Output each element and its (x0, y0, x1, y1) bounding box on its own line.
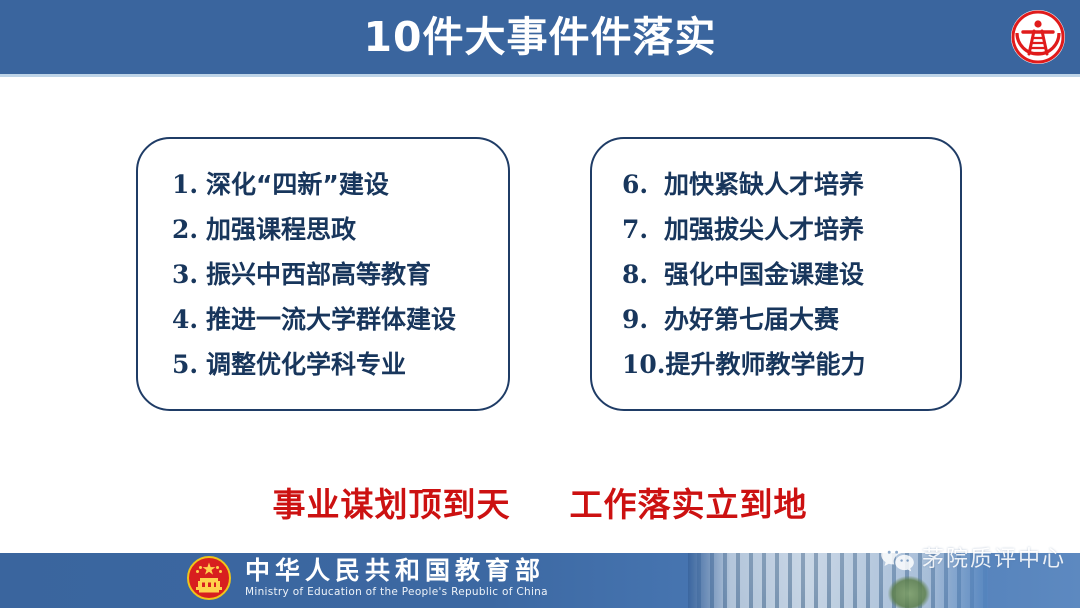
list-item: 9. 办好第七届大赛 (622, 297, 960, 342)
ministry-of-education-branding: 中华人民共和国教育部 Ministry of Education of the … (186, 555, 548, 601)
list-item-label: 办好第七届大赛 (664, 297, 839, 342)
list-box-right: 6. 加快紧缺人才培养 7. 加强拔尖人才培养 8. 强化中国金课建设 9. 办… (590, 137, 962, 411)
list-item: 2. 加强课程思政 (172, 207, 508, 252)
list-item-number: 10. (622, 342, 666, 387)
list-item: 8. 强化中国金课建设 (622, 252, 960, 297)
list-item: 6. 加快紧缺人才培养 (622, 162, 960, 207)
list-item-number: 9. (622, 297, 664, 342)
list-item: 4. 推进一流大学群体建设 (172, 297, 508, 342)
list-right: 6. 加快紧缺人才培养 7. 加强拔尖人才培养 8. 强化中国金课建设 9. 办… (592, 162, 960, 387)
slogan-part-1: 事业谋划顶到天 (273, 485, 511, 524)
university-emblem-logo (1008, 7, 1068, 67)
ministry-name-cn: 中华人民共和国教育部 (245, 557, 548, 585)
list-item-label: 加强课程思政 (206, 207, 356, 252)
watermark-label: 茅院质评中心 (922, 541, 1066, 573)
list-item-number: 3. (172, 252, 206, 297)
ministry-name-en: Ministry of Education of the People's Re… (245, 585, 548, 599)
slogan-part-2: 工作落实立到地 (570, 485, 808, 524)
list-item-number: 7. (622, 207, 664, 252)
list-left: 1. 深化“四新”建设 2. 加强课程思政 3. 振兴中西部高等教育 4. 推进… (138, 162, 508, 387)
list-item-number: 8. (622, 252, 664, 297)
list-box-left: 1. 深化“四新”建设 2. 加强课程思政 3. 振兴中西部高等教育 4. 推进… (136, 137, 510, 411)
slogan: 事业谋划顶到天 工作落实立到地 (0, 478, 1080, 526)
list-item-label: 加强拔尖人才培养 (664, 207, 864, 252)
list-item: 1. 深化“四新”建设 (172, 162, 508, 207)
list-item-number: 6. (622, 162, 664, 207)
wechat-icon (880, 542, 914, 572)
list-item-label: 推进一流大学群体建设 (206, 297, 456, 342)
list-item-number: 5. (172, 342, 206, 387)
list-item-label: 调整优化学科专业 (206, 342, 406, 387)
wechat-watermark: 茅院质评中心 (880, 541, 1066, 573)
list-item: 7. 加强拔尖人才培养 (622, 207, 960, 252)
list-item-label: 加快紧缺人才培养 (664, 162, 864, 207)
list-item-label: 提升教师教学能力 (666, 342, 866, 387)
ministry-text-block: 中华人民共和国教育部 Ministry of Education of the … (245, 557, 548, 599)
national-emblem-china (186, 555, 232, 601)
list-item: 10. 提升教师教学能力 (622, 342, 960, 387)
list-item-label: 振兴中西部高等教育 (206, 252, 431, 297)
page-title: 10件大事件件落实 (0, 0, 1080, 74)
list-item-number: 1. (172, 162, 206, 207)
list-item-label: 深化“四新”建设 (206, 162, 389, 207)
list-item-number: 4. (172, 297, 206, 342)
list-item: 5. 调整优化学科专业 (172, 342, 508, 387)
list-item: 3. 振兴中西部高等教育 (172, 252, 508, 297)
tree-decoration (888, 576, 930, 608)
header-divider (0, 74, 1080, 77)
list-item-label: 强化中国金课建设 (664, 252, 864, 297)
list-item-number: 2. (172, 207, 206, 252)
header-bar: 10件大事件件落实 (0, 0, 1080, 74)
